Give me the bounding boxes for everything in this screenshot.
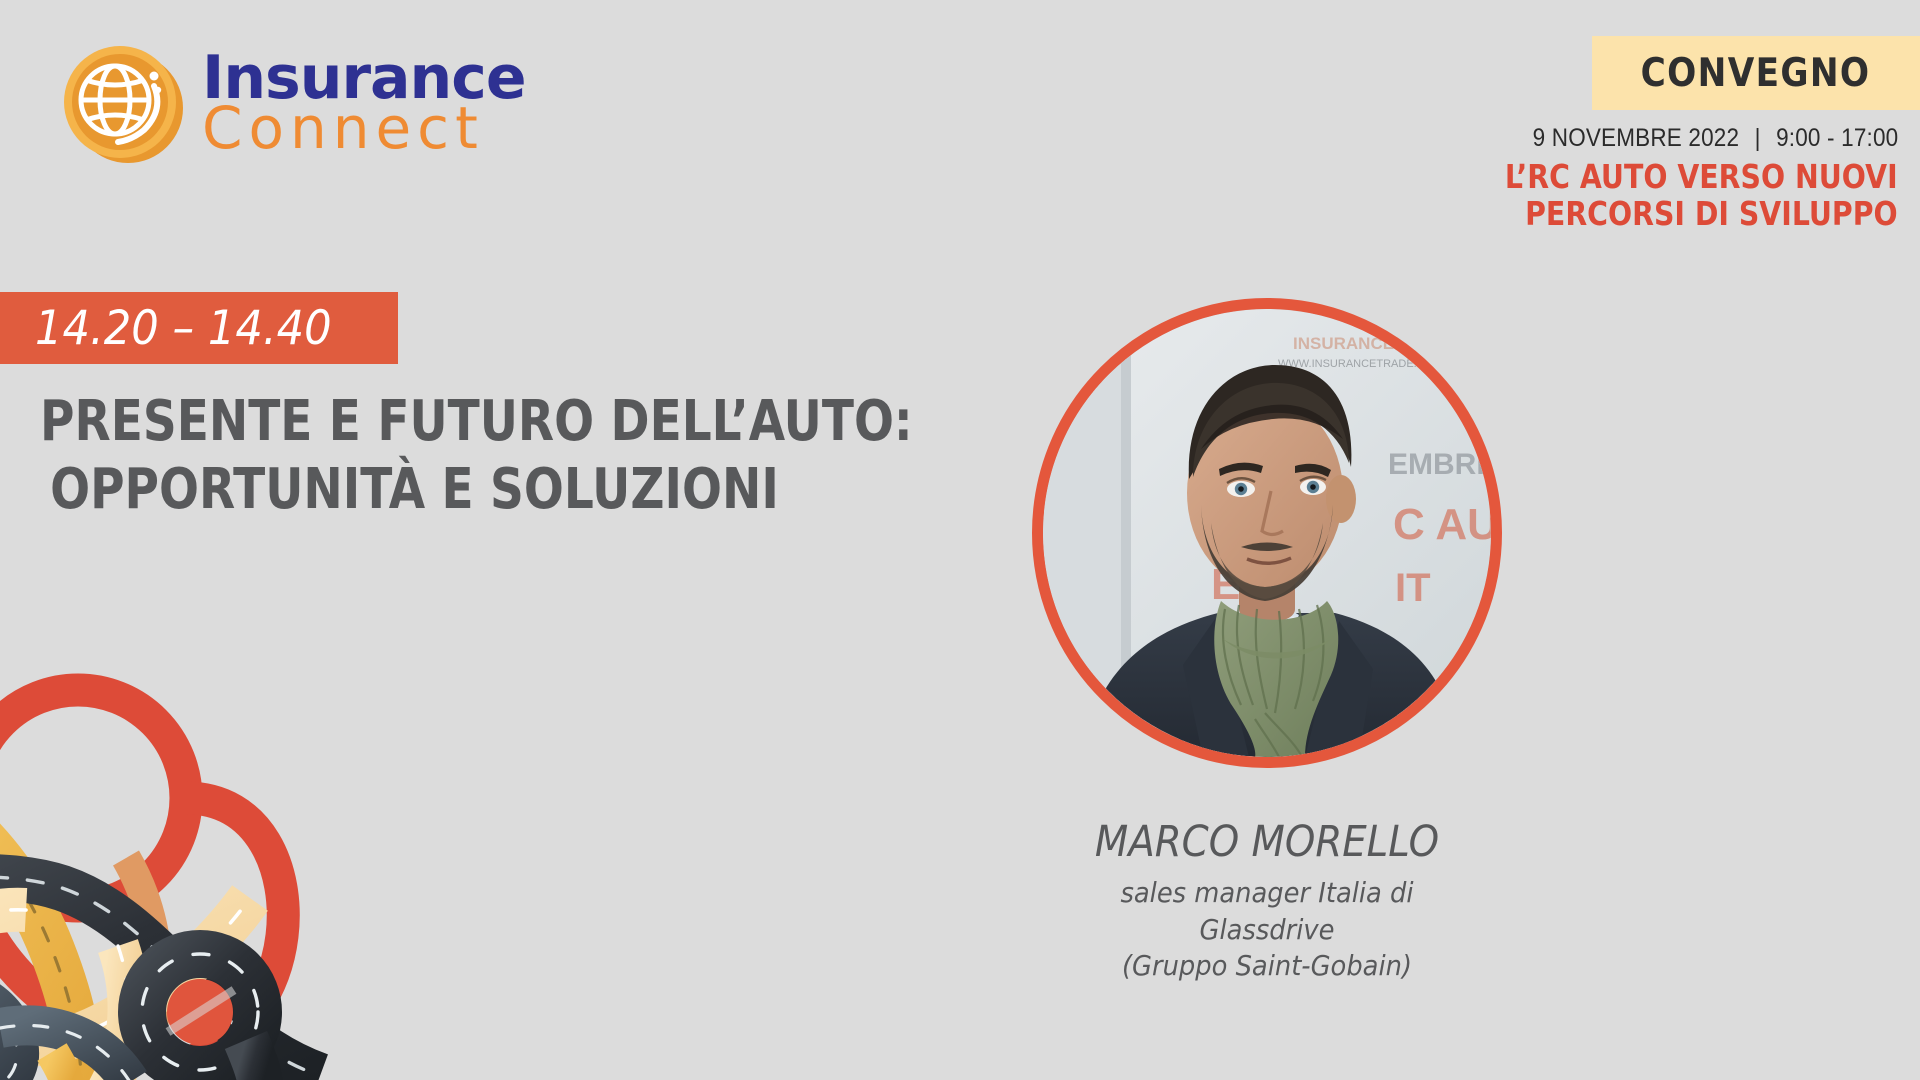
speaker-portrait-image: INSURANCE WWW.INSURANCETRADE.IT EMBRE C … <box>1043 309 1491 757</box>
speaker-company: (Gruppo Saint-Gobain) <box>1051 948 1483 984</box>
brand-name-secondary: Connect <box>202 102 526 155</box>
speaker-portrait: INSURANCE WWW.INSURANCETRADE.IT EMBRE C … <box>1032 298 1502 768</box>
event-datetime: 9 NOVEMBRE 2022 | 9:00 - 17:00 <box>1532 124 1898 153</box>
svg-text:EMBRE: EMBRE <box>1388 448 1491 481</box>
event-title-line-1: L’RC AUTO VERSO NUOVI <box>1505 158 1898 195</box>
event-time-value: 9:00 - 17:00 <box>1776 124 1898 152</box>
speaker-role-block: sales manager Italia di Glassdrive (Grup… <box>1051 875 1483 984</box>
session-title: PRESENTE E FUTURO DELL’AUTO: OPPORTUNITÀ… <box>40 388 913 525</box>
datetime-separator: | <box>1745 124 1769 153</box>
event-type-label: CONVEGNO <box>1641 51 1871 96</box>
session-title-line-1: PRESENTE E FUTURO DELL’AUTO: <box>40 388 913 456</box>
tangled-roads-illustration <box>0 620 400 1080</box>
slide-canvas: Insurance Connect CONVEGNO 9 NOVEMBRE 20… <box>0 0 1920 1080</box>
brand-wordmark: Insurance Connect <box>202 51 526 156</box>
svg-text:WWW.INSURANCETRADE.IT: WWW.INSURANCETRADE.IT <box>1278 358 1427 370</box>
event-title-line-2: PERCORSI DI SVILUPPO <box>1505 195 1898 232</box>
speaker-name: MARCO MORELLO <box>1056 818 1479 867</box>
event-date-value: 9 NOVEMBRE 2022 <box>1532 124 1739 152</box>
svg-text:IT: IT <box>1395 566 1431 610</box>
svg-text:INSURANCE: INSURANCE <box>1293 334 1394 353</box>
session-time-label: 14.20 – 14.40 <box>0 301 332 356</box>
brand-logo: Insurance Connect <box>58 38 526 168</box>
speaker-role: sales manager Italia di Glassdrive <box>1051 875 1483 948</box>
speaker-caption: MARCO MORELLO sales manager Italia di Gl… <box>1032 818 1502 985</box>
event-title: L’RC AUTO VERSO NUOVI PERCORSI DI SVILUP… <box>1505 158 1898 233</box>
svg-text:C AUT: C AUT <box>1393 500 1491 549</box>
globe-coin-icon <box>58 38 188 168</box>
session-title-line-2: OPPORTUNITÀ E SOLUZIONI <box>40 456 913 524</box>
session-time-badge: 14.20 – 14.40 <box>0 292 398 364</box>
event-type-badge: CONVEGNO <box>1592 36 1920 110</box>
